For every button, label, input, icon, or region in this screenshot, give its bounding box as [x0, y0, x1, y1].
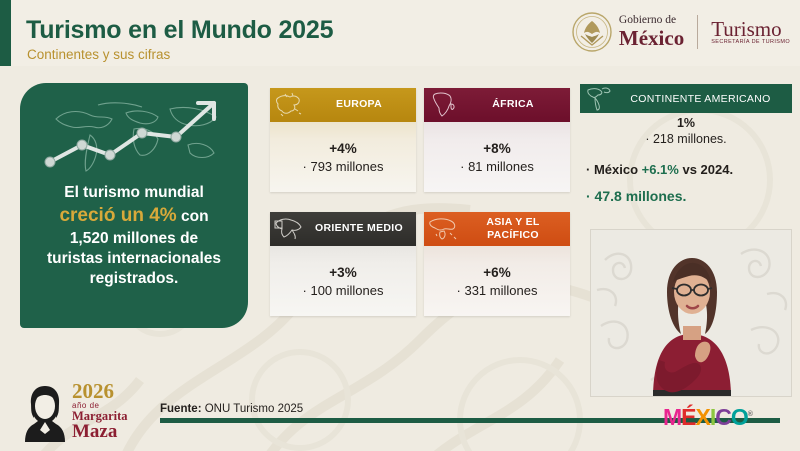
mexico-growth-line: · México +6.1% vs 2024.: [586, 162, 792, 177]
card-percent: +8%: [424, 141, 570, 156]
summary-line1: El turismo mundial: [30, 183, 238, 203]
card-header: ASIA Y EL PACÍFICO: [424, 212, 570, 246]
page-subtitle: Continentes y sus cifras: [27, 47, 170, 62]
brand-letter: M: [663, 404, 681, 431]
turismo-subtitle: Secretaría de Turismo: [711, 40, 790, 46]
africa-map-icon: [426, 90, 460, 120]
source-value: ONU Turismo 2025: [202, 403, 304, 415]
asia-pacific-map-icon: [426, 214, 460, 244]
card-body: +8% · 81 millones: [424, 122, 570, 174]
card-label: ÁFRICA: [460, 98, 570, 110]
page-title: Turismo en el Mundo 2025: [26, 16, 333, 45]
badge-year: 2026: [72, 381, 128, 402]
summary-growth-value: creció un 4%: [59, 205, 176, 226]
americas-body: 1% · 218 millones.: [580, 116, 792, 146]
mexico-eagle-emblem-icon: [572, 12, 612, 52]
continent-card-africa: ÁFRICA +8% · 81 millones: [424, 88, 570, 192]
continent-card-oriente-medio: ORIENTE MEDIO +3% · 100 millones: [270, 212, 416, 316]
summary-line2: 1,520 millones de: [30, 229, 238, 249]
card-header: EUROPA: [270, 88, 416, 122]
interpreter-video-frame: [591, 230, 792, 397]
americas-header: CONTINENTE AMERICANO: [580, 84, 792, 113]
badge-name-last: Maza: [72, 423, 128, 441]
card-label: EUROPA: [306, 98, 416, 110]
summary-line4: registrados.: [30, 269, 238, 289]
gobierno-line1: Gobierno de: [619, 15, 684, 27]
card-label: ASIA Y EL PACÍFICO: [460, 216, 570, 240]
mexico-suffix: vs 2024.: [679, 162, 733, 177]
card-header: ORIENTE MEDIO: [270, 212, 416, 246]
sign-language-interpreter-video[interactable]: [590, 229, 792, 397]
world-summary-text: El turismo mundial creció un 4% con 1,52…: [30, 183, 238, 290]
card-value: · 793 millones: [270, 159, 416, 174]
card-body: +3% · 100 millones: [270, 246, 416, 298]
card-percent: +3%: [270, 265, 416, 280]
summary-line-highlight: creció un 4% con: [30, 203, 238, 228]
card-value: · 81 millones: [424, 159, 570, 174]
badge-text: 2026 año de Margarita Maza: [72, 381, 128, 441]
card-body: +4% · 793 millones: [270, 122, 416, 174]
margarita-maza-portrait-icon: [22, 380, 68, 442]
continent-card-europa: EUROPA +4% · 793 millones: [270, 88, 416, 192]
brand-letter: C: [715, 404, 731, 431]
continent-card-asia-pacifico: ASIA Y EL PACÍFICO +6% · 331 millones: [424, 212, 570, 316]
header-left-accent: [0, 0, 11, 66]
header-bar: Turismo en el Mundo 2025 Continentes y s…: [0, 0, 800, 66]
turismo-logo-text: Turismo Secretaría de Turismo: [711, 18, 790, 46]
brand-letter: O: [731, 404, 748, 431]
mexico-growth-value: +6.1%: [642, 162, 679, 177]
mexico-visitors-value: · 47.8 millones.: [586, 188, 792, 204]
source-label: Fuente:: [160, 403, 202, 415]
gobierno-text: Gobierno de México: [619, 15, 684, 49]
world-summary-card: El turismo mundial creció un 4% con 1,52…: [20, 83, 248, 328]
card-percent: +4%: [270, 141, 416, 156]
gobierno-line2: México: [619, 27, 684, 49]
card-percent: +6%: [424, 265, 570, 280]
world-map-arrow-icon: [38, 93, 234, 179]
margarita-maza-2026-badge: 2026 año de Margarita Maza: [22, 378, 152, 444]
americas-percent: 1%: [580, 116, 792, 130]
brand-letter: É: [681, 404, 695, 431]
logo-divider: [697, 15, 698, 49]
gobierno-de-mexico-logo: Gobierno de México Turismo Secretaría de…: [572, 8, 790, 56]
americas-label: CONTINENTE AMERICANO: [613, 93, 792, 105]
card-body: +6% · 331 millones: [424, 246, 570, 298]
summary-line1-tail: con: [177, 208, 209, 225]
card-header: ÁFRICA: [424, 88, 570, 122]
slide-root: Turismo en el Mundo 2025 Continentes y s…: [0, 0, 800, 451]
europe-map-icon: [272, 90, 306, 120]
mexico-brand-logo: MÉXICO®: [663, 404, 752, 431]
middle-east-map-icon: [272, 214, 306, 244]
turismo-title: Turismo: [711, 18, 790, 40]
americas-value: · 218 millones.: [580, 132, 792, 146]
americas-map-icon: [583, 86, 613, 112]
mexico-prefix: · México: [586, 162, 642, 177]
card-value: · 331 millones: [424, 283, 570, 298]
brand-letter: X: [696, 404, 710, 431]
summary-line3: turistas internacionales: [30, 249, 238, 269]
registered-mark: ®: [748, 411, 752, 418]
card-label: ORIENTE MEDIO: [306, 222, 416, 234]
card-value: · 100 millones: [270, 283, 416, 298]
